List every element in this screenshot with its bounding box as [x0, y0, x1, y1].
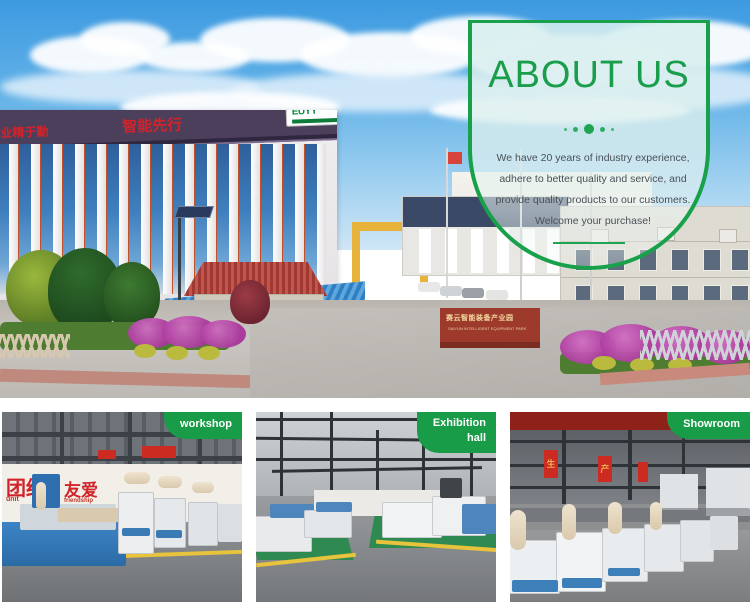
- red-banner: [98, 450, 116, 459]
- title-underline: [553, 242, 625, 244]
- parked-car: [462, 288, 484, 298]
- machine: [462, 504, 496, 534]
- machine: [680, 520, 714, 562]
- tag-label-line-1: Exhibition: [433, 417, 486, 429]
- red-hanging-banner: 生: [544, 450, 558, 478]
- thumbnail-workshop[interactable]: 团结 unit 友爱 friendship worksh: [2, 412, 242, 602]
- parked-car: [440, 286, 462, 296]
- yellow-shrub: [166, 346, 188, 360]
- red-hanging-banner: [638, 462, 648, 482]
- machine: [304, 510, 352, 538]
- tag-label: workshop: [180, 418, 232, 430]
- tag-label: Showroom: [683, 418, 740, 430]
- company-logo: EUYY: [285, 110, 337, 127]
- cnc-machine: [58, 508, 122, 522]
- tag-label-line-2: hall: [433, 431, 486, 446]
- about-us-card: ABOUT US We have 20 years of industry ex…: [468, 20, 710, 270]
- about-line-2: adhere to better quality and service, an…: [482, 169, 704, 190]
- machine: [316, 502, 352, 512]
- machine-cabinet: [154, 498, 186, 548]
- machine-cabinet: [118, 492, 154, 554]
- red-hanging-banner: 产: [598, 456, 612, 482]
- red-banner: [142, 446, 176, 458]
- banner-char: 产: [600, 464, 609, 474]
- thumbnail-tag-workshop: workshop: [164, 412, 242, 439]
- machine-cabinet: [188, 502, 218, 546]
- parked-car: [418, 282, 440, 292]
- thumbnail-tag-exhibition-hall: Exhibition hall: [417, 412, 496, 453]
- about-us-banner: 业精于勤 智能先行 EUYY: [0, 0, 750, 608]
- red-flag: [448, 152, 462, 164]
- thumbnail-tag-showroom: Showroom: [667, 412, 750, 439]
- machine-cabinet: [218, 504, 242, 542]
- flag-pole: [446, 148, 448, 298]
- page-title: ABOUT US: [472, 56, 706, 94]
- stone-sign-chinese: 赛云智能装备产业园: [446, 313, 514, 323]
- thumbnail-exhibition-hall[interactable]: Exhibition hall: [256, 412, 496, 602]
- dot-separator-icon: [472, 124, 706, 134]
- tree: [230, 280, 270, 324]
- solar-street-lamp: [178, 218, 181, 306]
- yellow-shrub: [134, 344, 156, 358]
- hero-factory-photo: 业精于勤 智能先行 EUYY: [0, 0, 750, 398]
- flowering-shrub: [200, 320, 246, 348]
- stone-sign-sub: SAIYUN INTELLIGENT EQUIPMENT PARK: [448, 326, 526, 331]
- retractable-gate-right: [640, 330, 750, 360]
- thumbnail-showroom[interactable]: 生 产 Showroom: [510, 412, 750, 602]
- yellow-shrub: [198, 346, 220, 360]
- parked-car: [486, 290, 508, 300]
- company-stone-sign: 赛云智能装备产业园 SAIYUN INTELLIGENT EQUIPMENT P…: [440, 308, 540, 348]
- facade-chinese-text-2: 智能先行: [122, 114, 183, 137]
- machine: [644, 524, 684, 572]
- yellow-shrub: [592, 356, 616, 370]
- banner-char: 生: [546, 459, 555, 469]
- facility-thumbnail-row: 团结 unit 友爱 friendship worksh: [0, 412, 750, 608]
- about-line-4: Welcome your purchase!: [482, 211, 704, 232]
- machine: [710, 516, 738, 550]
- about-line-1: We have 20 years of industry experience,: [482, 148, 704, 169]
- wall-pinyin-left: unit: [6, 496, 19, 503]
- retractable-gate-left: [0, 334, 70, 358]
- facade-chinese-text-1: 业精于勤: [0, 123, 49, 142]
- about-us-description: We have 20 years of industry experience,…: [482, 148, 704, 232]
- about-line-3: provide quality products to our customer…: [482, 190, 704, 211]
